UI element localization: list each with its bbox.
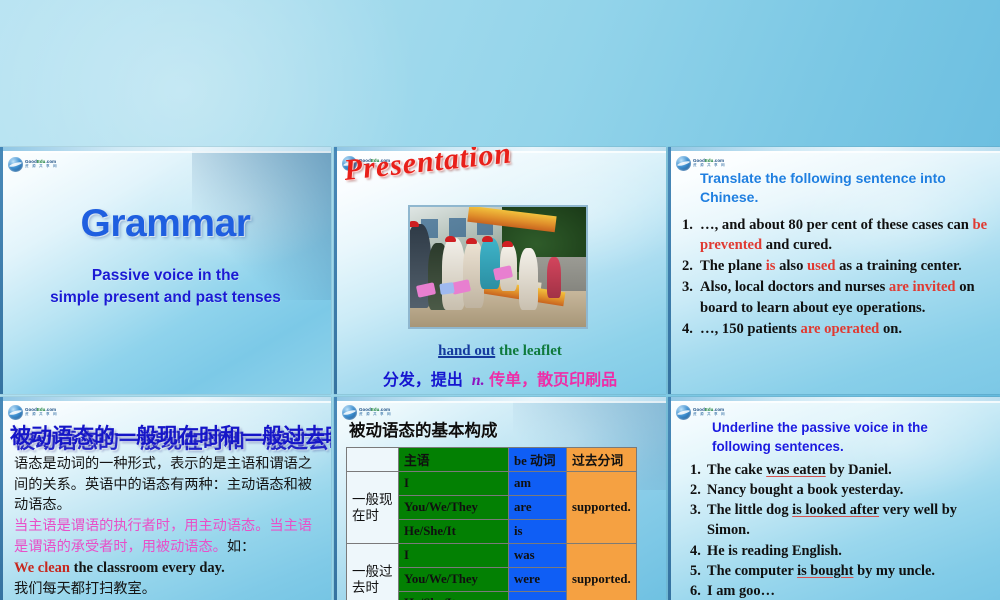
sentence-text: …, and about 80 per cent of these cases … — [700, 217, 973, 233]
paragraph-usage: 当主语是谓语的执行者时，用主动语态。当主语是谓语的承受者时，用被动语态。如： — [14, 516, 323, 557]
sentence-text: and cured. — [762, 237, 832, 253]
slide-canvas: GoodEdu.com 资 源 共 享 网 被动语态的基本构成 主语be 动词过… — [334, 397, 666, 600]
slide-thumbnail-presentation[interactable]: GoodEdu.com 资 源 共 享 网 Presentation — [334, 147, 666, 394]
passive-structure-table: 主语be 动词过去分词一般现在时Iamsupported.You/We/They… — [346, 447, 637, 600]
table-cell-be-verb: were — [509, 568, 567, 592]
table-header-cell: 过去分词 — [567, 448, 637, 472]
photo-blue-leaflets — [439, 282, 454, 295]
table-cell-subject: He/She/It — [399, 520, 509, 544]
slide-heading-translate: Translate the following sentence into Ch… — [700, 169, 986, 207]
passive-voice-underline: is bought — [797, 563, 853, 579]
template-top-accent-highlight — [668, 401, 1000, 403]
vocab-english-phrase: hand out the leaflet — [334, 343, 666, 360]
vocab-rest-part: the leaflet — [495, 343, 562, 359]
sentence-text: as a training center. — [835, 258, 961, 274]
paragraph-definition: 语态是动词的一种形式，表示的是主语和谓语之间的关系。英语中的语态有两种：主动语态… — [14, 454, 323, 516]
sentence-text: The computer — [707, 563, 797, 579]
slide-title-voice-intro: 被动语态的一般现在时和一般过去时 — [10, 420, 327, 450]
table-cell-subject: I — [399, 472, 509, 496]
slide-thumbnail-underline-exercise[interactable]: GoodEdu.com 资 源 共 享 网 Underline the pass… — [668, 397, 1000, 600]
gloss-pos: n. — [472, 372, 485, 389]
translate-sentence-list: 1.…, and about 80 per cent of these case… — [682, 215, 992, 340]
sentence-text: The little dog — [707, 502, 792, 518]
sentence-text: by my uncle. — [853, 563, 935, 579]
sentence-text: Nancy bought a book yesterday. — [707, 482, 903, 498]
slide-thumbnail-voice-intro[interactable]: GoodEdu.com 资 源 共 享 网 被动语态的一般现在时和一般过去时 被… — [0, 397, 331, 600]
passive-voice-highlight: are operated — [801, 321, 880, 337]
table-cell-be-verb: are — [509, 496, 567, 520]
underline-list-item: 3.The little dog is looked after very we… — [690, 500, 994, 540]
usage-pink-text: 当主语是谓语的执行者时，用主动语态。当主语是谓语的承受者时，用被动语态。 — [14, 518, 312, 555]
gloss-verb: 分发，提出 — [383, 372, 463, 389]
template-left-edge — [668, 397, 671, 600]
list-item-number: 2. — [690, 480, 701, 500]
template-left-edge — [334, 397, 337, 600]
photo-person — [442, 238, 465, 310]
underline-list-item: 2.Nancy bought a book yesterday. — [690, 480, 994, 500]
voice-intro-body: 语态是动词的一种形式，表示的是主语和谓语之间的关系。英语中的语态有两种：主动语态… — [14, 454, 323, 600]
table-cell-participle: supported. — [567, 472, 637, 544]
slide-thumbnail-deck: GoodEdu.com 资 源 共 享 网 Grammar Passive vo… — [0, 0, 1000, 600]
list-item-number: 3. — [690, 500, 701, 520]
photo-person — [519, 248, 538, 310]
sentence-text: I am goo… — [707, 583, 775, 599]
slide-canvas: GoodEdu.com 资 源 共 享 网 被动语态的一般现在时和一般过去时 被… — [0, 397, 331, 600]
underline-list-item: 4.He is reading English. — [690, 541, 994, 561]
underline-sentence-list: 1.The cake was eaten by Daniel.2.Nancy b… — [690, 460, 994, 600]
photo-red-cap — [502, 241, 513, 247]
slide-subtitle-grammar: Passive voice in the simple present and … — [20, 265, 311, 310]
template-top-accent-highlight — [668, 151, 1000, 153]
translate-list-item: 4.…, 150 patients are operated on. — [682, 319, 992, 339]
photo-person — [480, 238, 499, 288]
passive-voice-highlight: are invited — [889, 279, 956, 295]
photo-red-cap — [482, 236, 493, 242]
sentence-text: Also, local doctors and nurses — [700, 279, 889, 295]
passive-voice-highlight: is — [766, 258, 776, 274]
template-top-accent-highlight — [0, 401, 331, 403]
table-cell-participle: supported. — [567, 544, 637, 600]
slide-canvas: GoodEdu.com 资 源 共 享 网 Grammar Passive vo… — [0, 147, 331, 394]
table-cell-be-verb: was — [509, 592, 567, 600]
example-highlight: We clean — [14, 560, 70, 576]
example-sentence-cn: 我们每天都打扫教室。 — [14, 579, 323, 600]
table-cell-subject: He/She/It — [399, 592, 509, 600]
table-header-cell: 主语 — [399, 448, 509, 472]
underline-list-item: 1.The cake was eaten by Daniel. — [690, 460, 994, 480]
sentence-text: He is reading English. — [707, 543, 842, 559]
list-item-number: 1. — [690, 460, 701, 480]
table-cell-tense-label: 一般过去时 — [347, 544, 399, 600]
table-row: 一般过去时Iwassupported. — [347, 544, 637, 568]
list-item-number: 5. — [690, 561, 701, 581]
example-rest: the classroom every day. — [70, 560, 225, 576]
table-header-row: 主语be 动词过去分词 — [347, 448, 637, 472]
slide-title-structure: 被动语态的基本构成 — [349, 417, 498, 441]
slide-thumbnail-grammar[interactable]: GoodEdu.com 资 源 共 享 网 Grammar Passive vo… — [0, 147, 331, 394]
list-item-number: 3. — [682, 277, 693, 297]
translate-list-item: 3.Also, local doctors and nurses are inv… — [682, 277, 992, 317]
passive-voice-highlight: used — [807, 258, 835, 274]
photo-red-cap — [408, 221, 419, 227]
template-left-edge — [668, 147, 671, 394]
table-cell-be-verb: was — [509, 544, 567, 568]
vocab-chinese-gloss: 分发，提出 n. 传单，散页印刷品 — [334, 366, 666, 390]
slide-thumbnail-translate[interactable]: GoodEdu.com 资 源 共 享 网 Translate the foll… — [668, 147, 1000, 394]
passive-voice-underline: was eaten — [766, 462, 826, 478]
subtitle-line-1: Passive voice in the — [20, 265, 311, 287]
gloss-noun: 传单，散页印刷品 — [489, 372, 617, 389]
example-sentence-en: We clean the classroom every day. — [14, 558, 323, 579]
list-item-number: 4. — [682, 319, 693, 339]
translate-list-item: 2.The plane is also used as a training c… — [682, 256, 992, 276]
table-header-cell — [347, 448, 399, 472]
template-left-edge — [0, 147, 3, 394]
underline-list-item: 5.The computer is bought by my uncle. — [690, 561, 994, 581]
sentence-text: …, 150 patients — [700, 321, 801, 337]
list-item-number: 1. — [682, 215, 693, 235]
vocab-underlined-part: hand out — [438, 343, 495, 359]
photo-person — [547, 257, 561, 298]
sentence-text: by Daniel. — [826, 462, 892, 478]
list-item-number: 2. — [682, 256, 693, 276]
template-top-accent-highlight — [0, 151, 331, 153]
slide-heading-underline: Underline the passive voice in the follo… — [712, 419, 988, 457]
list-item-number: 6. — [690, 581, 701, 600]
table-cell-tense-label: 一般现在时 — [347, 472, 399, 544]
slide-canvas: GoodEdu.com 资 源 共 享 网 Underline the pass… — [668, 397, 1000, 600]
slide-title-grammar: Grammar — [0, 202, 331, 246]
template-left-edge — [0, 397, 3, 600]
photo-red-cap — [466, 238, 477, 244]
table-cell-subject: You/We/They — [399, 496, 509, 520]
sentence-text: The plane — [700, 258, 766, 274]
translate-list-item: 1.…, and about 80 per cent of these case… — [682, 215, 992, 255]
sentence-text: also — [775, 258, 807, 274]
slide-canvas: GoodEdu.com 资 源 共 享 网 Presentation — [334, 147, 666, 394]
table-cell-be-verb: am — [509, 472, 567, 496]
template-top-accent-highlight — [334, 401, 666, 403]
table-cell-subject: You/We/They — [399, 568, 509, 592]
table-row: 一般现在时Iamsupported. — [347, 472, 637, 496]
sentence-text: The cake — [707, 462, 766, 478]
photo-red-cap — [445, 236, 456, 242]
slide-thumbnail-structure-table[interactable]: GoodEdu.com 资 源 共 享 网 被动语态的基本构成 主语be 动词过… — [334, 397, 666, 600]
slide-canvas: GoodEdu.com 资 源 共 享 网 Translate the foll… — [668, 147, 1000, 394]
table-cell-be-verb: is — [509, 520, 567, 544]
usage-black-text: 如： — [227, 539, 255, 555]
photo-window — [449, 218, 467, 237]
table-header-cell: be 动词 — [509, 448, 567, 472]
subtitle-line-2: simple present and past tenses — [20, 287, 311, 309]
leaflet-handout-photo — [408, 205, 588, 329]
slide-title-area: 被动语态的一般现在时和一般过去时 被动语态的一般现在时和一般过去时 — [10, 420, 327, 448]
list-item-number: 4. — [690, 541, 701, 561]
sentence-text: on. — [879, 321, 902, 337]
table-cell-subject: I — [399, 544, 509, 568]
passive-voice-underline: is looked after — [792, 502, 879, 518]
underline-list-item: 6.I am goo… — [690, 581, 994, 600]
